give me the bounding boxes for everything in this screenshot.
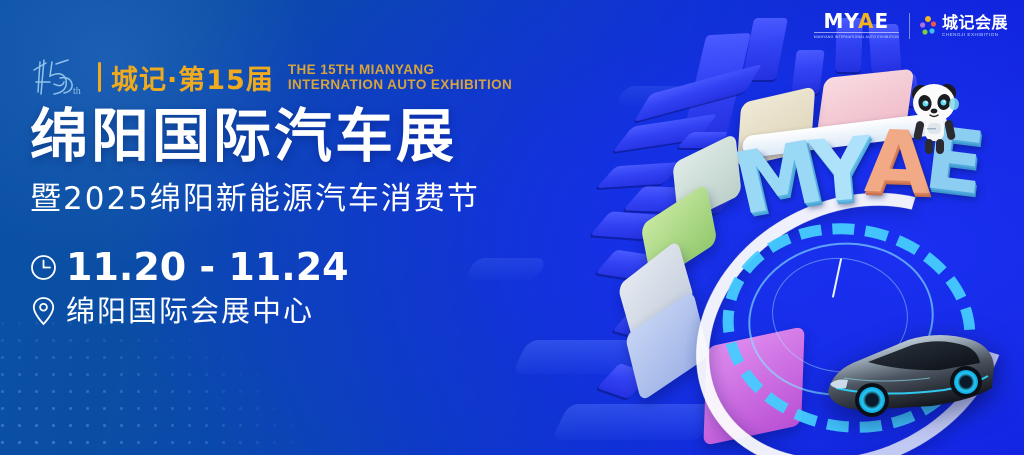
plate-mint bbox=[672, 133, 741, 225]
english-line-2: INTERNATION AUTO EXHIBITION bbox=[288, 77, 512, 93]
plate-green bbox=[641, 183, 718, 285]
auto-exhibition-banner: MYAE bbox=[0, 0, 1024, 455]
plate-purple bbox=[703, 326, 804, 446]
myae-3d-letter-a: A bbox=[863, 119, 928, 207]
diagonal-slash-decoration bbox=[551, 404, 719, 440]
event-meta: 11.20 - 11.24 绵阳国际会展中心 bbox=[30, 248, 590, 326]
myae-logo-word: MYAE bbox=[824, 11, 890, 31]
plate-cream bbox=[737, 86, 816, 168]
tech-ring-white bbox=[647, 139, 1024, 455]
plate-grey bbox=[617, 240, 694, 347]
edition-row: th 城记·第15届 THE 15TH MIANYANG INTERNATION… bbox=[30, 54, 590, 100]
tech-ring-inner bbox=[766, 251, 913, 379]
chengji-name-en: CHENGJI EXHIBITION bbox=[942, 31, 1008, 38]
logo-group: MYAE MIANYANG INTERNATIONAL AUTO EXHIBIT… bbox=[814, 11, 1008, 40]
myae-3d-letter-y: Y bbox=[806, 126, 871, 217]
myae-logo-letter-e: E bbox=[874, 9, 889, 33]
tech-ring-dashed bbox=[706, 204, 992, 453]
event-title: 绵阳国际汽车展 bbox=[30, 106, 590, 167]
plate-pink bbox=[816, 69, 914, 142]
robot-panda-mascot bbox=[903, 77, 965, 155]
anniversary-15th-badge-icon: th bbox=[30, 54, 88, 100]
colored-plates-ring bbox=[598, 18, 1024, 455]
diagonal-slash-decoration bbox=[512, 340, 649, 374]
myae-logo-letter-y: Y bbox=[844, 9, 858, 33]
chengji-dots-icon bbox=[920, 15, 937, 37]
venue-row: 绵阳国际会展中心 bbox=[30, 296, 590, 326]
logo-divider bbox=[909, 13, 910, 39]
myae-logo[interactable]: MYAE MIANYANG INTERNATIONAL AUTO EXHIBIT… bbox=[814, 11, 899, 40]
myae-3d-letter-e: E bbox=[921, 115, 985, 207]
myae-logo-tagline: MIANYANG INTERNATIONAL AUTO EXHIBITION bbox=[814, 32, 899, 40]
event-date: 11.20 - 11.24 bbox=[66, 248, 349, 286]
clock-icon bbox=[30, 254, 57, 281]
tech-ring-thin bbox=[738, 231, 943, 407]
tech-ring-needle bbox=[832, 258, 842, 298]
date-row: 11.20 - 11.24 bbox=[30, 248, 590, 286]
myae-logo-letter-a: A bbox=[858, 9, 874, 33]
myae-podium-decoration bbox=[741, 112, 948, 159]
location-pin-icon bbox=[30, 296, 57, 326]
banner-text-block: th 城记·第15届 THE 15TH MIANYANG INTERNATION… bbox=[30, 54, 590, 336]
english-line-1: THE 15TH MIANYANG bbox=[288, 62, 512, 78]
chengji-logo-text: 城记会展 CHENGJI EXHIBITION bbox=[942, 14, 1008, 38]
gold-divider bbox=[98, 62, 101, 92]
chengji-logo[interactable]: 城记会展 CHENGJI EXHIBITION bbox=[920, 14, 1008, 38]
edition-label-en: THE 15TH MIANYANG INTERNATION AUTO EXHIB… bbox=[288, 62, 512, 93]
chengji-name-cn: 城记会展 bbox=[942, 14, 1008, 31]
edition-label-cn: 城记·第15届 bbox=[111, 58, 274, 97]
svg-text:th: th bbox=[73, 86, 81, 97]
myae-3d-letter-m: M bbox=[727, 130, 826, 228]
myae-logo-letter-m: M bbox=[824, 9, 845, 33]
radiating-bars-decoration bbox=[598, 18, 1024, 455]
myae-3d-wordmark: MYAE bbox=[736, 136, 977, 222]
plate-lilac bbox=[625, 290, 709, 402]
event-subtitle: 暨2025绵阳新能源汽车消费节 bbox=[30, 173, 590, 218]
diagonal-slash-decoration bbox=[615, 86, 685, 106]
event-venue: 绵阳国际会展中心 bbox=[66, 297, 314, 326]
concept-car-illustration bbox=[822, 318, 998, 428]
